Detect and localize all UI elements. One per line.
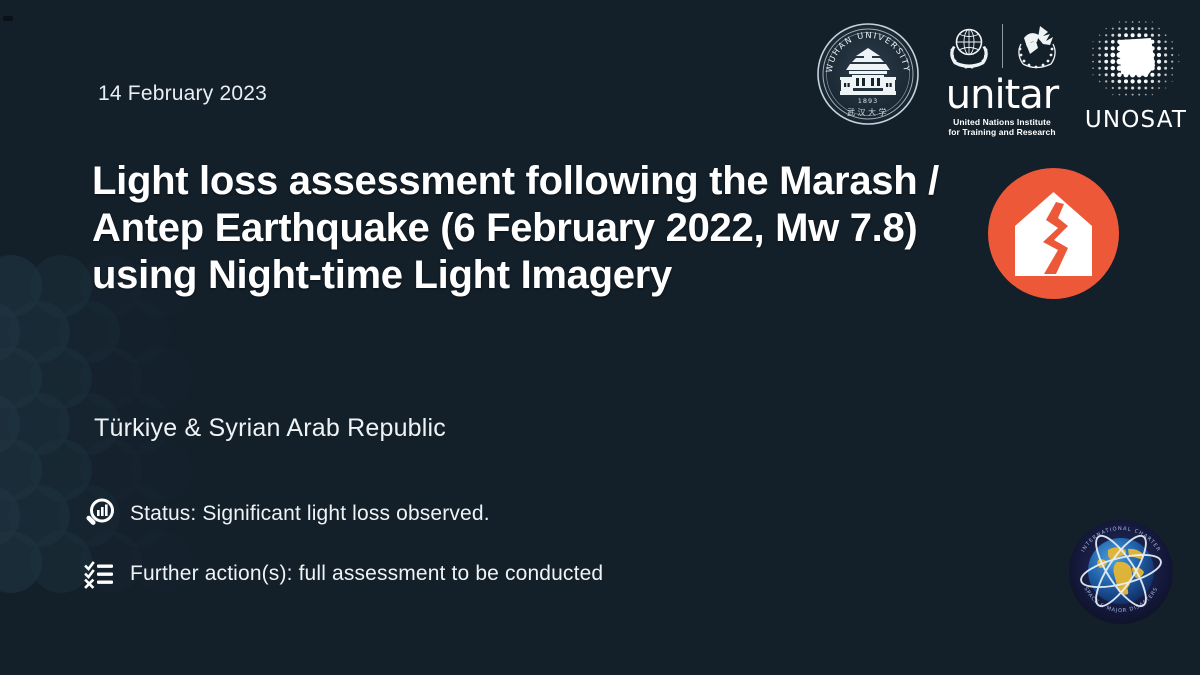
checklist-icon (82, 557, 116, 591)
unosat-wordmark: UNOSAT (1085, 107, 1187, 133)
background-dot (8, 393, 70, 455)
unitar-emblems (943, 18, 1062, 74)
status-line-further-actions-text: Further action(s): full assessment to be… (130, 562, 603, 586)
un-emblem-icon (943, 20, 995, 72)
international-charter-logo: INTERNATIONAL CHARTER SPACE & MAJOR DISA… (1062, 516, 1180, 626)
wuhan-university-seal: WUHAN UNIVERSITY (816, 22, 920, 126)
background-dot (108, 301, 170, 363)
unitar-tagline: United Nations Institute for Training an… (948, 117, 1055, 138)
background-dot (30, 347, 92, 409)
unosat-dot-matrix-icon (1089, 18, 1183, 104)
background-dot (8, 301, 70, 363)
status-line-further-actions: Further action(s): full assessment to be… (82, 557, 603, 591)
background-dot (0, 393, 20, 455)
page-subtitle: Türkiye & Syrian Arab Republic (94, 414, 446, 443)
background-dot (30, 439, 92, 501)
background-dot (30, 255, 92, 317)
page-title: Light loss assessment following the Mara… (92, 158, 952, 300)
unosat-logo: UNOSAT (1084, 18, 1188, 138)
background-dot (0, 439, 42, 501)
background-dot (130, 347, 192, 409)
magnifier-chart-icon (82, 497, 116, 531)
background-dot (8, 485, 70, 547)
logo-row: WUHAN UNIVERSITY (816, 18, 1188, 138)
unitar-wordmark: unitar (946, 76, 1058, 114)
unitar-tagline-line1: United Nations Institute (953, 117, 1051, 127)
background-dot (80, 439, 142, 501)
background-dot (0, 485, 20, 547)
corner-mark (3, 16, 13, 21)
background-dot (0, 347, 42, 409)
unitar-logo: unitar United Nations Institute for Trai… (936, 18, 1068, 138)
slide-date: 14 February 2023 (98, 82, 267, 106)
earthquake-damaged-house-badge (988, 168, 1119, 299)
background-dot (130, 439, 192, 501)
background-dot (80, 347, 142, 409)
svg-text:1893: 1893 (858, 97, 879, 105)
background-dot (0, 531, 42, 593)
unitar-dove-emblem-icon (1010, 20, 1062, 72)
background-dot (0, 301, 20, 363)
status-line-status: Status: Significant light loss observed. (82, 497, 490, 531)
slide-canvas: 14 February 2023 WUHAN UNIVERSITY (0, 0, 1200, 675)
svg-text:武汉大学: 武汉大学 (847, 107, 889, 117)
unitar-divider (1002, 24, 1003, 68)
status-line-status-text: Status: Significant light loss observed. (130, 502, 490, 526)
background-dot (0, 255, 42, 317)
unitar-tagline-line2: for Training and Research (948, 127, 1055, 137)
background-dot (58, 301, 120, 363)
